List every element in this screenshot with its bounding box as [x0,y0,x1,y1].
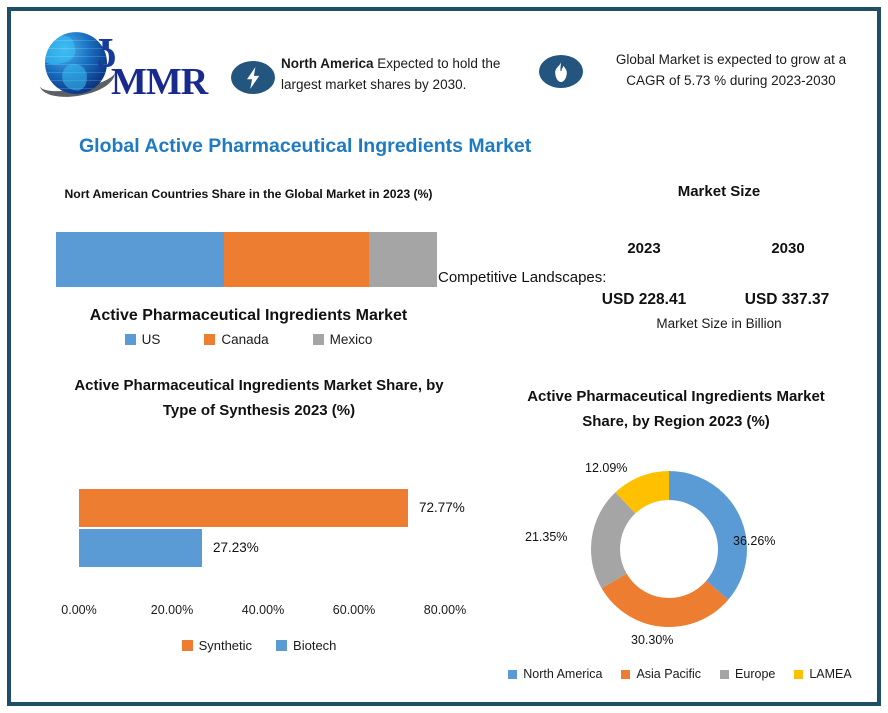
synthesis-bar-chart-x-axis: 0.00% 20.00% 40.00% 60.00% 80.00% [41,603,481,621]
x-tick-80: 80.00% [410,603,480,617]
callout-north-america: North America Expected to hold the large… [231,53,531,105]
lightning-bolt-icon [231,61,275,94]
legend-swatch-europe [720,670,729,679]
infographic-frame: ʖ MMR North America Expected to hold the… [7,7,881,706]
region-donut-chart-title: Active Pharmaceutical Ingredients Market… [511,384,841,434]
region-donut-chart: 36.26% 30.30% 21.35% 12.09% [589,469,749,629]
flame-icon [539,55,583,88]
donut-label-asia-pacific: 30.30% [631,633,673,647]
stacked-bar-segment-us [56,232,224,287]
legend-swatch-us [125,334,136,345]
synthesis-bar-chart-legend: Synthetic Biotech [69,638,449,653]
callout-cagr: Global Market is expected to grow at a C… [539,49,869,121]
logo-wordmark: MMR [111,60,207,104]
stacked-bar-caption: Active Pharmaceutical Ingredients Market [51,307,446,325]
stacked-bar-chart-title: Nort American Countries Share in the Glo… [56,185,441,204]
legend-swatch-north-america [508,670,517,679]
synthesis-bar-chart-plot: 72.77% 27.23% [79,489,441,575]
callout-cagr-text: Global Market is expected to grow at a C… [597,49,865,91]
callout-bold-lead: North America [281,56,374,71]
donut-svg [589,469,749,629]
market-size-heading: Market Size [591,183,847,200]
stacked-bar-segment-mexico [369,232,437,287]
market-size-year-2023: 2023 [591,240,697,257]
stacked-bar-segment-canada [224,232,369,287]
bar-biotech [79,529,202,567]
legend-item-canada: Canada [204,332,268,347]
bar-synthetic [79,489,408,527]
market-size-value-2023: USD 228.41 [581,291,707,309]
legend-label-europe: Europe [735,667,775,681]
donut-label-north-america: 36.26% [733,534,775,548]
x-tick-40: 40.00% [228,603,298,617]
legend-label-synthetic: Synthetic [199,638,252,653]
market-size-year-2030: 2030 [727,240,849,257]
stacked-bar-legend: US Canada Mexico [51,332,446,347]
legend-swatch-synthetic [182,640,193,651]
legend-item-asia-pacific: Asia Pacific [621,667,701,681]
legend-item-biotech: Biotech [276,638,336,653]
legend-label-us: US [142,332,161,347]
region-donut-chart-legend: North America Asia Pacific Europe LAMEA [495,667,865,681]
legend-label-north-america: North America [523,667,602,681]
legend-item-mexico: Mexico [313,332,373,347]
legend-item-lamea: LAMEA [794,667,851,681]
x-tick-0: 0.00% [44,603,114,617]
legend-swatch-canada [204,334,215,345]
market-size-value-2030: USD 337.37 [717,291,857,309]
legend-item-synthetic: Synthetic [182,638,252,653]
legend-item-north-america: North America [508,667,602,681]
legend-label-biotech: Biotech [293,638,336,653]
x-tick-20: 20.00% [137,603,207,617]
market-size-unit-note: Market Size in Billion [591,316,847,331]
mmr-logo: ʖ MMR [33,26,213,106]
callout-north-america-text: North America Expected to hold the large… [281,53,531,95]
legend-label-canada: Canada [221,332,268,347]
page-title: Global Active Pharmaceutical Ingredients… [79,135,599,158]
competitive-landscapes-label: Competitive Landscapes: [438,269,606,286]
legend-swatch-lamea [794,670,803,679]
bar-label-synthetic: 72.77% [419,500,465,515]
donut-label-europe: 21.35% [525,530,567,544]
legend-label-mexico: Mexico [330,332,373,347]
legend-label-asia-pacific: Asia Pacific [636,667,701,681]
legend-item-europe: Europe [720,667,775,681]
synthesis-bar-chart-title: Active Pharmaceutical Ingredients Market… [69,373,449,423]
legend-item-us: US [125,332,161,347]
donut-label-lamea: 12.09% [585,461,627,475]
legend-swatch-mexico [313,334,324,345]
stacked-bar-chart [56,232,437,287]
bar-label-biotech: 27.23% [213,540,259,555]
legend-swatch-asia-pacific [621,670,630,679]
legend-label-lamea: LAMEA [809,667,851,681]
x-tick-60: 60.00% [319,603,389,617]
legend-swatch-biotech [276,640,287,651]
